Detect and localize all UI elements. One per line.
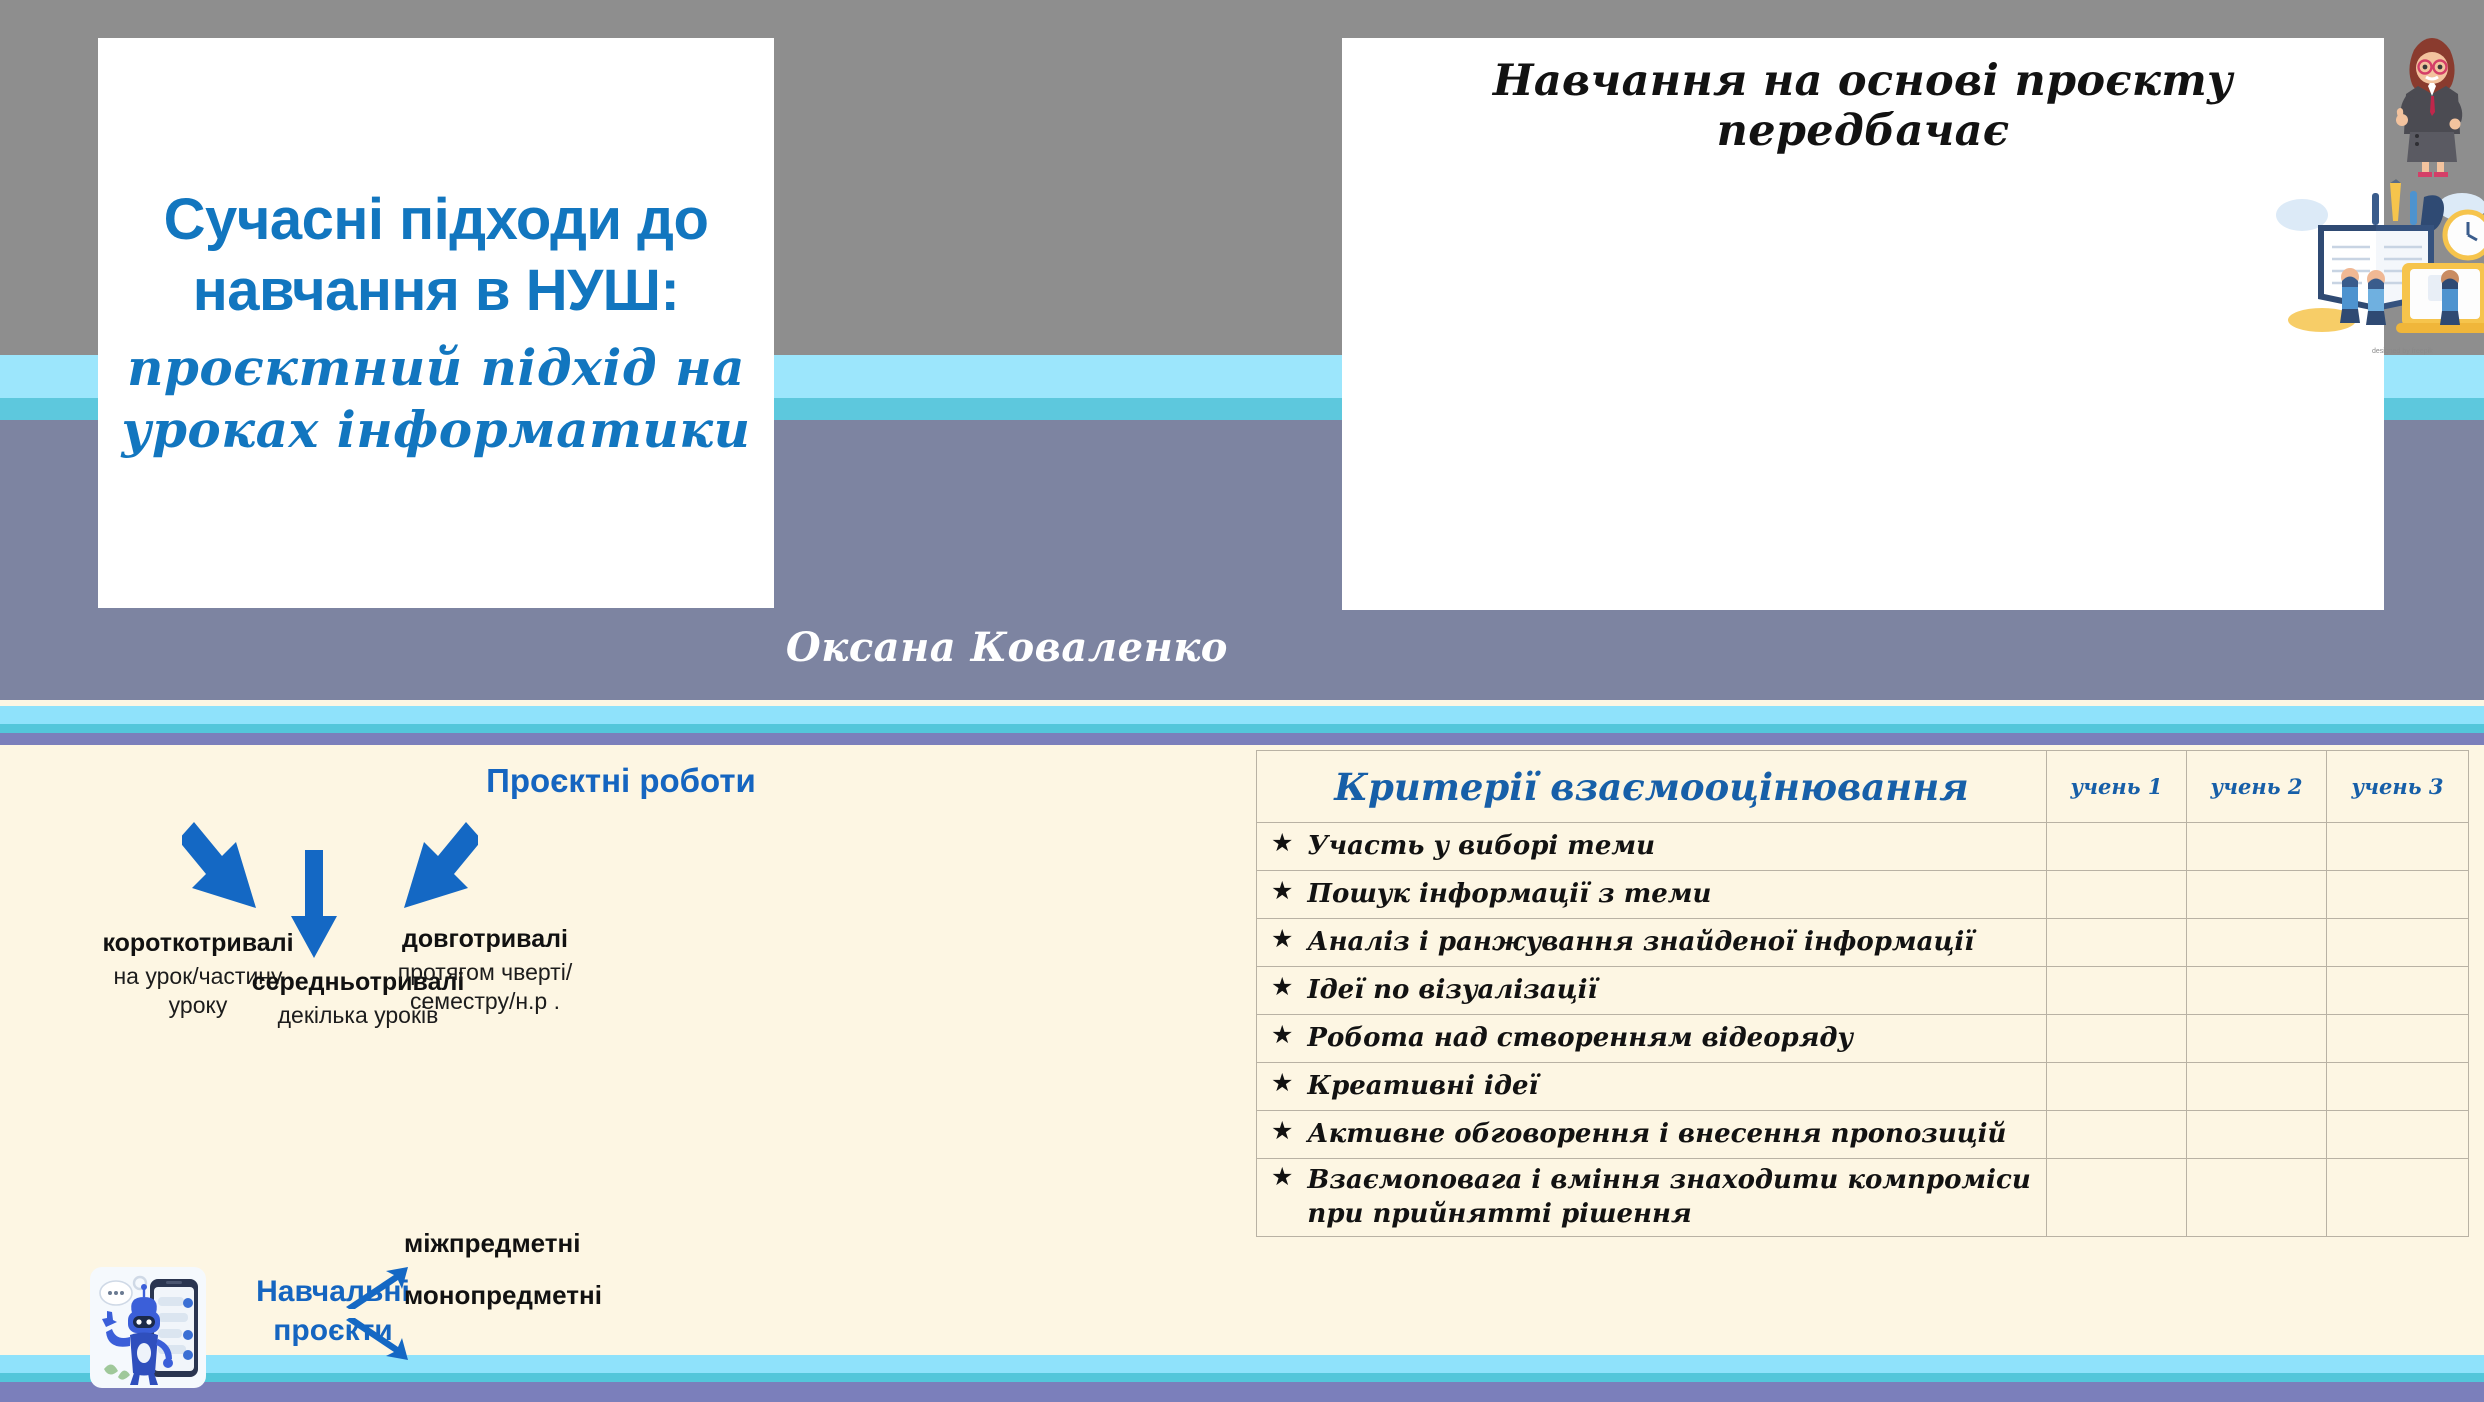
slide-bottom-band-light-cyan [1242,1355,2484,1373]
mark-cell-pupil-2[interactable] [2187,919,2327,967]
mark-cell-pupil-2[interactable] [2187,871,2327,919]
table-row[interactable]: ★ Пошук інформації з теми [1257,871,2469,919]
duration-long-detail: протягом чверті/семестру/н.р . [390,958,580,1016]
duration-long: довготривалі протягом чверті/семестру/н.… [390,924,580,1016]
mark-cell-pupil-3[interactable] [2327,1159,2469,1237]
arrow-interdisciplinary [344,1267,410,1309]
star-icon: ★ [1271,1118,1293,1146]
table-header-row: Критерії взаємооцінювання учень 1 учень … [1257,751,2469,823]
criteria-text: Робота над створенням відеоряду [1307,1022,1853,1056]
criteria-cell-active-discussion: ★ Активне обговорення і внесення пропози… [1257,1111,2047,1159]
learning-project-interdisciplinary: міжпредметні [404,1228,580,1259]
criteria-text: Активне обговорення і внесення пропозиці… [1307,1118,2006,1152]
page-title: Сучасні підходи до навчання в НУШ: [116,185,756,327]
table-row[interactable]: ★ Ідеї по візуалізації [1257,967,2469,1015]
title-card: Сучасні підходи до навчання в НУШ: проєк… [98,38,774,608]
table-header-pupil-3: учень 3 [2327,751,2469,823]
mark-cell-pupil-2[interactable] [2187,1015,2327,1063]
arrow-monodisciplinary [344,1318,410,1360]
project-based-learning-slide[interactable]: Навчання на основі проєкту передбачає [1242,0,2484,700]
mark-cell-pupil-1[interactable] [2047,967,2187,1015]
star-icon: ★ [1271,1070,1293,1098]
criteria-cell-visual-ideas: ★ Ідеї по візуалізації [1257,967,2047,1015]
star-icon: ★ [1271,830,1293,858]
title-slide[interactable]: Сучасні підходи до навчання в НУШ: проєк… [0,0,1242,700]
criteria-text: Креативні ідеї [1307,1070,1538,1104]
page-subtitle: проєктний підхід на уроках інформатики [116,337,756,461]
learning-project-monodisciplinary: монопредметні [404,1280,602,1311]
criteria-text: Участь у виборі теми [1307,830,1655,864]
slide-bottom-band-dark-cyan [1242,1373,2484,1382]
mark-cell-pupil-3[interactable] [2327,871,2469,919]
mark-cell-pupil-2[interactable] [2187,823,2327,871]
table-row[interactable]: ★ Робота над створенням відеоряду [1257,1015,2469,1063]
table-header-pupil-1: учень 1 [2047,751,2187,823]
mark-cell-pupil-1[interactable] [2047,1111,2187,1159]
peer-assessment-table[interactable]: Критерії взаємооцінювання учень 1 учень … [1256,750,2469,1237]
duration-long-heading: довготривалі [390,924,580,954]
criteria-cell-creative-ideas: ★ Креативні ідеї [1257,1063,2047,1111]
image-credit: designed by freepik [2372,348,2433,355]
table-row[interactable]: ★ Взаємоповага і вміння знаходити компро… [1257,1159,2469,1237]
criteria-text: Аналіз і ранжування знайденої інформації [1307,926,1974,960]
star-icon: ★ [1271,974,1293,1002]
books-and-students-illustration: designed by freepik [2272,155,2484,360]
mark-cell-pupil-1[interactable] [2047,919,2187,967]
criteria-cell-topic-choice: ★ Участь у виборі теми [1257,823,2047,871]
slide-top-band-light-cyan [1242,706,2484,724]
slide-grid: Сучасні підходи до навчання в НУШ: проєк… [0,0,2484,1402]
star-icon: ★ [1271,878,1293,906]
mindmap-title: Навчання на основі проєкту передбачає [1342,56,2384,156]
author-signature: Оксана Коваленко [786,624,1228,671]
arrow-short-duration [182,822,260,912]
star-icon: ★ [1271,926,1293,954]
slide-top-band-light-cyan [0,706,1242,724]
table-row[interactable]: ★ Аналіз і ранжування знайденої інформац… [1257,919,2469,967]
mark-cell-pupil-2[interactable] [2187,1111,2327,1159]
mark-cell-pupil-2[interactable] [2187,1063,2327,1111]
criteria-cell-video-work: ★ Робота над створенням відеоряду [1257,1015,2047,1063]
slide-bottom-band-purple [1242,1382,2484,1402]
criteria-text: Взаємоповага і вміння знаходити компромі… [1307,1164,2040,1232]
mark-cell-pupil-1[interactable] [2047,871,2187,919]
star-icon: ★ [1271,1022,1293,1050]
mark-cell-pupil-3[interactable] [2327,1015,2469,1063]
mark-cell-pupil-3[interactable] [2327,1063,2469,1111]
chatbot-robot-illustration [88,1265,208,1390]
mark-cell-pupil-2[interactable] [2187,1159,2327,1237]
mark-cell-pupil-3[interactable] [2327,823,2469,871]
duration-short-heading: короткотривалі [98,928,298,958]
star-icon: ★ [1271,1164,1293,1192]
mark-cell-pupil-1[interactable] [2047,1159,2187,1237]
mark-cell-pupil-1[interactable] [2047,823,2187,871]
table-row[interactable]: ★ Активне обговорення і внесення пропози… [1257,1111,2469,1159]
criteria-cell-info-search: ★ Пошук інформації з теми [1257,871,2047,919]
teacher-woman-illustration [2384,20,2482,180]
mark-cell-pupil-3[interactable] [2327,1111,2469,1159]
project-works-slide[interactable]: Проєктні роботи короткотривалі на урок/ч… [0,700,1242,1402]
criteria-cell-mutual-respect: ★ Взаємоповага і вміння знаходити компро… [1257,1159,2047,1237]
slide-top-band-dark-cyan [1242,724,2484,733]
mark-cell-pupil-3[interactable] [2327,967,2469,1015]
peer-assessment-criteria-slide[interactable]: Критерії взаємооцінювання учень 1 учень … [1242,700,2484,1402]
mark-cell-pupil-1[interactable] [2047,1063,2187,1111]
criteria-cell-info-analysis: ★ Аналіз і ранжування знайденої інформац… [1257,919,2047,967]
mark-cell-pupil-3[interactable] [2327,919,2469,967]
mark-cell-pupil-2[interactable] [2187,967,2327,1015]
slide-top-band-dark-cyan [0,724,1242,733]
project-works-title: Проєктні роботи [0,762,1242,800]
table-row[interactable]: ★ Креативні ідеї [1257,1063,2469,1111]
criteria-text: Пошук інформації з теми [1307,878,1711,912]
table-header-criteria: Критерії взаємооцінювання [1257,751,2047,823]
criteria-text: Ідеї по візуалізації [1307,974,1597,1008]
table-header-pupil-2: учень 2 [2187,751,2327,823]
mark-cell-pupil-1[interactable] [2047,1015,2187,1063]
table-row[interactable]: ★ Участь у виборі теми [1257,823,2469,871]
arrow-long-duration [400,822,478,912]
